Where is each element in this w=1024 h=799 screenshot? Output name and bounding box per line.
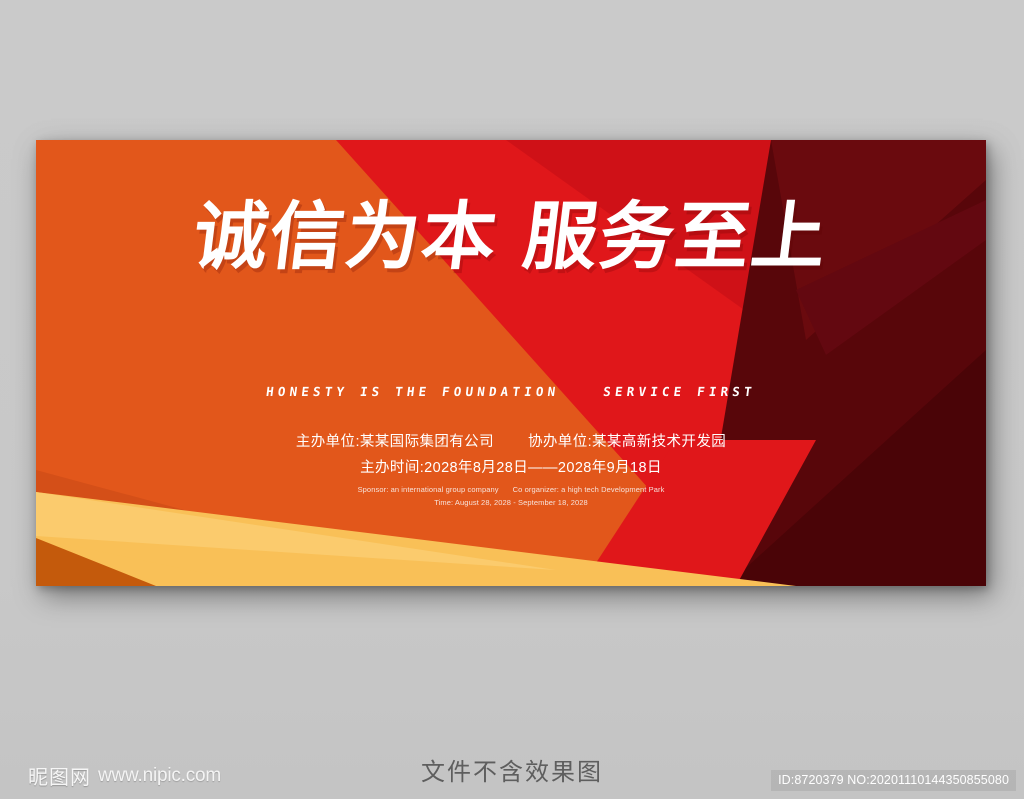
banner-organizer-line: 主办单位:某某国际集团有公司协办单位:某某高新技术开发园	[36, 430, 986, 451]
tagline-right: SERVICE FIRST	[602, 384, 756, 399]
banner-english-sponsor-line: Sponsor: an international group companyC…	[36, 485, 986, 494]
english-sponsor: Sponsor: an international group company	[358, 485, 499, 494]
banner-surface: 诚信为本服务至上 HONESTY IS THE FOUNDATIONSERVIC…	[36, 140, 986, 586]
banner-english-time-line: Time: August 28, 2028 - September 18, 20…	[36, 498, 986, 507]
headline-left: 诚信为本	[189, 194, 504, 280]
banner-headline: 诚信为本服务至上	[36, 200, 986, 274]
page-canvas: 诚信为本服务至上 HONESTY IS THE FOUNDATIONSERVIC…	[0, 0, 1024, 799]
organizer-sponsor: 主办单位:某某国际集团有公司	[296, 434, 494, 450]
organizer-co: 协办单位:某某高新技术开发园	[528, 434, 726, 450]
english-co-organizer: Co organizer: a high tech Development Pa…	[513, 485, 665, 494]
site-watermark: 昵图网 www.nipic.com	[28, 761, 221, 790]
headline-right: 服务至上	[519, 194, 834, 280]
asset-id-badge: ID:8720379 NO:20201110144350855080	[771, 770, 1016, 791]
banner-date-line: 主办时间:2028年8月28日——2028年9月18日	[36, 456, 986, 477]
banner-artwork[interactable]: 诚信为本服务至上 HONESTY IS THE FOUNDATIONSERVIC…	[36, 140, 986, 586]
watermark-url-text: www.nipic.com	[98, 765, 221, 787]
banner-tagline: HONESTY IS THE FOUNDATIONSERVICE FIRST	[36, 384, 986, 399]
tagline-left: HONESTY IS THE FOUNDATION	[265, 384, 560, 399]
watermark-logo-text: 昵图网	[28, 761, 91, 790]
